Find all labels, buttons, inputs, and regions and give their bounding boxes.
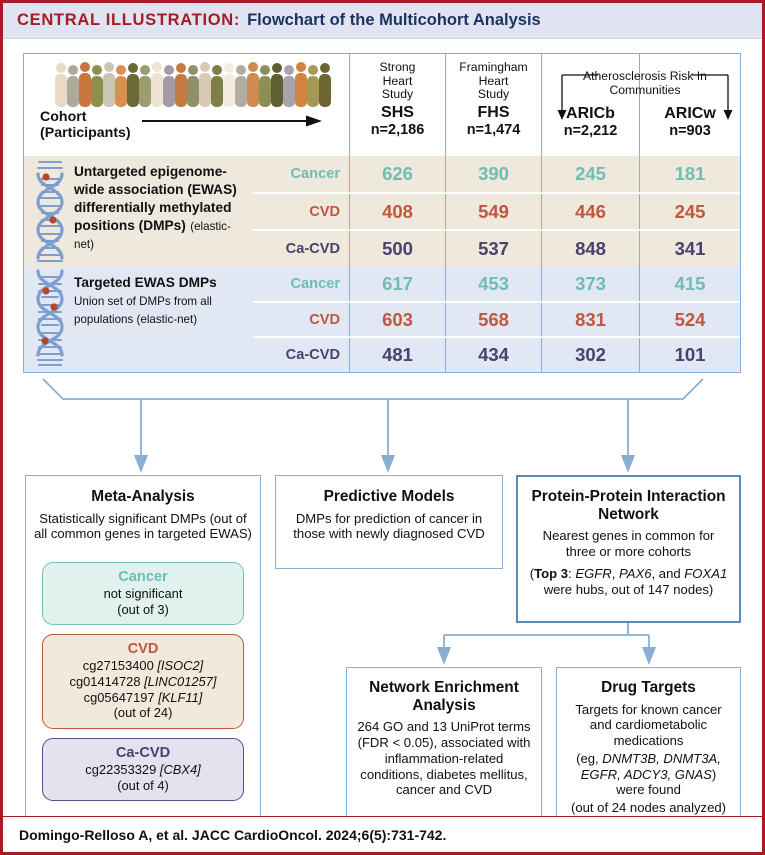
shs-name-1: Strong bbox=[380, 61, 416, 75]
gene-name: [CBX4] bbox=[160, 762, 201, 777]
dna-helix-icon bbox=[28, 158, 72, 266]
meta-sub-cancer-heading: Cancer bbox=[49, 569, 237, 586]
gene-name: [ISOC2] bbox=[157, 658, 203, 673]
ppi-network-body: Nearest genes in common for three or mor… bbox=[526, 528, 731, 559]
network-enrichment-body: 264 GO and 13 UniProt terms (FDR < 0.05)… bbox=[355, 719, 533, 798]
cell-value: 373 bbox=[541, 267, 639, 301]
section-targeted-label: Targeted EWAS DMPs Union set of DMPs fro… bbox=[24, 267, 253, 372]
ppi-top-label: Top 3 bbox=[534, 566, 568, 581]
ppi-top-tail: were hubs, out of 147 nodes) bbox=[544, 582, 714, 597]
meta-sub-cancer-line2: (out of 3) bbox=[49, 602, 237, 618]
table-row: Ca-CVD 481 434 302 101 bbox=[253, 336, 740, 372]
meta-sub-cvd-item: cg27153400 [ISOC2] bbox=[49, 658, 237, 674]
shs-n: n=2,186 bbox=[371, 122, 425, 138]
cell-value: 617 bbox=[349, 267, 445, 301]
drug-body2-prefix: (eg, bbox=[576, 751, 602, 766]
meta-analysis-box: Meta-Analysis Statistically significant … bbox=[25, 475, 261, 833]
table-row: Cancer 617 453 373 415 bbox=[253, 267, 740, 301]
cell-value: 245 bbox=[541, 156, 639, 192]
column-header-fhs: Framingham Heart Study FHS n=1,474 bbox=[445, 54, 541, 156]
cpg-id: cg01414728 bbox=[70, 674, 141, 689]
network-enrichment-box: Network Enrichment Analysis 264 GO and 1… bbox=[346, 667, 542, 833]
gene-name: [LINC01257] bbox=[144, 674, 216, 689]
cell-value: 603 bbox=[349, 303, 445, 337]
table-section-untargeted: Untargeted epigenome-wide association (E… bbox=[24, 156, 740, 268]
fhs-abbr: FHS bbox=[478, 104, 510, 122]
meta-sub-cacvd: Ca-CVD cg22353329 [CBX4] (out of 4) bbox=[42, 738, 244, 801]
title-prefix: CENTRAL ILLUSTRATION: bbox=[17, 11, 240, 30]
cell-value: 390 bbox=[445, 156, 541, 192]
outcome-label-cancer: Cancer bbox=[253, 166, 349, 182]
gene-name-egfr: EGFR bbox=[575, 566, 611, 581]
cell-value: 181 bbox=[639, 156, 740, 192]
column-header-shs: Strong Heart Study SHS n=2,186 bbox=[349, 54, 445, 156]
fhs-name-2: Heart bbox=[479, 75, 509, 89]
fhs-n: n=1,474 bbox=[467, 122, 521, 138]
crowd-of-people-icon bbox=[53, 59, 338, 109]
drug-targets-heading: Drug Targets bbox=[565, 679, 732, 697]
meta-sub-cacvd-footer: (out of 4) bbox=[49, 778, 237, 794]
drug-targets-body1: Targets for known cancer and cardiometab… bbox=[565, 702, 732, 749]
figure-footer: Domingo-Relloso A, et al. JACC CardioOnc… bbox=[3, 816, 762, 852]
gene-name: [KLF11] bbox=[158, 690, 202, 705]
network-enrichment-heading: Network Enrichment Analysis bbox=[355, 679, 533, 714]
cell-value: 500 bbox=[349, 231, 445, 267]
meta-sub-cacvd-item: cg22353329 [CBX4] bbox=[49, 762, 237, 778]
cohort-label-line2: (Participants) bbox=[40, 126, 131, 142]
meta-sub-cvd-heading: CVD bbox=[49, 641, 237, 658]
meta-sub-cancer-line1: not significant bbox=[49, 586, 237, 602]
predictive-models-heading: Predictive Models bbox=[284, 488, 494, 506]
figure-title-bar: CENTRAL ILLUSTRATION: Flowchart of the M… bbox=[3, 3, 762, 39]
outcome-label-cacvd: Ca-CVD bbox=[253, 347, 349, 363]
table-row: CVD 603 568 831 524 bbox=[253, 301, 740, 337]
cell-value: 245 bbox=[639, 194, 740, 230]
citation-text: Domingo-Relloso A, et al. JACC CardioOnc… bbox=[19, 827, 446, 843]
table-row: Ca-CVD 500 537 848 341 bbox=[253, 229, 740, 267]
ppi-network-box: Protein-Protein Interaction Network Near… bbox=[516, 475, 741, 623]
right-arrow-icon bbox=[142, 114, 322, 128]
outcome-label-cvd: CVD bbox=[253, 312, 349, 328]
cohort-data-table: Cohort (Participants) Strong Heart Study… bbox=[23, 53, 741, 373]
cell-value: 408 bbox=[349, 194, 445, 230]
cpg-id: cg22353329 bbox=[85, 762, 156, 777]
cell-value: 453 bbox=[445, 267, 541, 301]
fhs-name-1: Framingham bbox=[459, 61, 527, 75]
ppi-network-heading: Protein-Protein Interaction Network bbox=[526, 488, 731, 523]
fhs-name-3: Study bbox=[478, 88, 509, 102]
cell-value: 524 bbox=[639, 303, 740, 337]
aric-grouping-bracket: Atherosclerosis Risk In Communities bbox=[546, 70, 744, 122]
title-main: Flowchart of the Multicohort Analysis bbox=[247, 11, 541, 30]
cell-value: 101 bbox=[639, 338, 740, 372]
ppi-gene-and: , and bbox=[652, 566, 685, 581]
cell-value: 831 bbox=[541, 303, 639, 337]
cell-value: 446 bbox=[541, 194, 639, 230]
table-row: CVD 408 549 446 245 bbox=[253, 192, 740, 230]
ppi-network-top3: (Top 3: EGFR, PAX6, and FOXA1 were hubs,… bbox=[526, 566, 731, 597]
cell-value: 302 bbox=[541, 338, 639, 372]
meta-sub-cvd: CVD cg27153400 [ISOC2] cg01414728 [LINC0… bbox=[42, 634, 244, 729]
dna-helix-icon bbox=[28, 269, 72, 369]
cell-value: 415 bbox=[639, 267, 740, 301]
cohort-illustration-cell: Cohort (Participants) bbox=[24, 54, 349, 156]
gene-name-pax6: PAX6 bbox=[619, 566, 652, 581]
aricw-n: n=903 bbox=[669, 123, 711, 139]
cell-value: 549 bbox=[445, 194, 541, 230]
meta-sub-cvd-item: cg05647197 [KLF11] bbox=[49, 690, 237, 706]
meta-sub-cvd-footer: (out of 24) bbox=[49, 705, 237, 721]
cell-value: 434 bbox=[445, 338, 541, 372]
cell-value: 481 bbox=[349, 338, 445, 372]
cohort-axis-label: Cohort (Participants) bbox=[40, 110, 131, 142]
cohort-label-line1: Cohort bbox=[40, 110, 131, 126]
cell-value: 848 bbox=[541, 231, 639, 267]
cell-value: 341 bbox=[639, 231, 740, 267]
aric-bracket-icon bbox=[546, 70, 744, 122]
meta-analysis-body: Statistically significant DMPs (out of a… bbox=[34, 511, 252, 542]
meta-analysis-heading: Meta-Analysis bbox=[34, 488, 252, 506]
central-illustration-figure: CENTRAL ILLUSTRATION: Flowchart of the M… bbox=[0, 0, 765, 855]
shs-name-3: Study bbox=[382, 88, 413, 102]
meta-sub-cvd-item: cg01414728 [LINC01257] bbox=[49, 674, 237, 690]
meta-sub-cancer: Cancer not significant (out of 3) bbox=[42, 562, 244, 625]
drug-targets-body3: (out of 24 nodes analyzed) bbox=[565, 800, 732, 816]
table-section-targeted: Targeted EWAS DMPs Union set of DMPs fro… bbox=[24, 267, 740, 372]
shs-abbr: SHS bbox=[381, 104, 414, 122]
meta-sub-cacvd-heading: Ca-CVD bbox=[49, 745, 237, 762]
table-row: Cancer 626 390 245 181 bbox=[253, 156, 740, 192]
outcome-label-cvd: CVD bbox=[253, 204, 349, 220]
cpg-id: cg27153400 bbox=[83, 658, 154, 673]
section-targeted-title: Targeted EWAS DMPs bbox=[74, 275, 217, 290]
predictive-models-box: Predictive Models DMPs for prediction of… bbox=[275, 475, 503, 569]
cpg-id: cg05647197 bbox=[84, 690, 155, 705]
shs-name-2: Heart bbox=[383, 75, 413, 89]
predictive-models-body: DMPs for prediction of cancer in those w… bbox=[284, 511, 494, 542]
aricb-n: n=2,212 bbox=[564, 123, 618, 139]
drug-targets-body2: (eg, DNMT3B, DNMT3A, EGFR, ADCY3, GNAS) … bbox=[565, 751, 732, 798]
drug-targets-box: Drug Targets Targets for known cancer an… bbox=[556, 667, 741, 833]
gene-name-foxa1: FOXA1 bbox=[684, 566, 727, 581]
section-targeted-subtitle: Union set of DMPs from all populations (… bbox=[74, 295, 212, 326]
drug-gene-list: DNMT3B, DNMT3A, EGFR, ADCY3, GNAS bbox=[581, 751, 721, 782]
section-untargeted-label: Untargeted epigenome-wide association (E… bbox=[24, 156, 253, 268]
cell-value: 537 bbox=[445, 231, 541, 267]
cell-value: 568 bbox=[445, 303, 541, 337]
figure-canvas: Cohort (Participants) Strong Heart Study… bbox=[3, 39, 762, 852]
cell-value: 626 bbox=[349, 156, 445, 192]
outcome-label-cancer: Cancer bbox=[253, 276, 349, 292]
outcome-label-cacvd: Ca-CVD bbox=[253, 241, 349, 257]
